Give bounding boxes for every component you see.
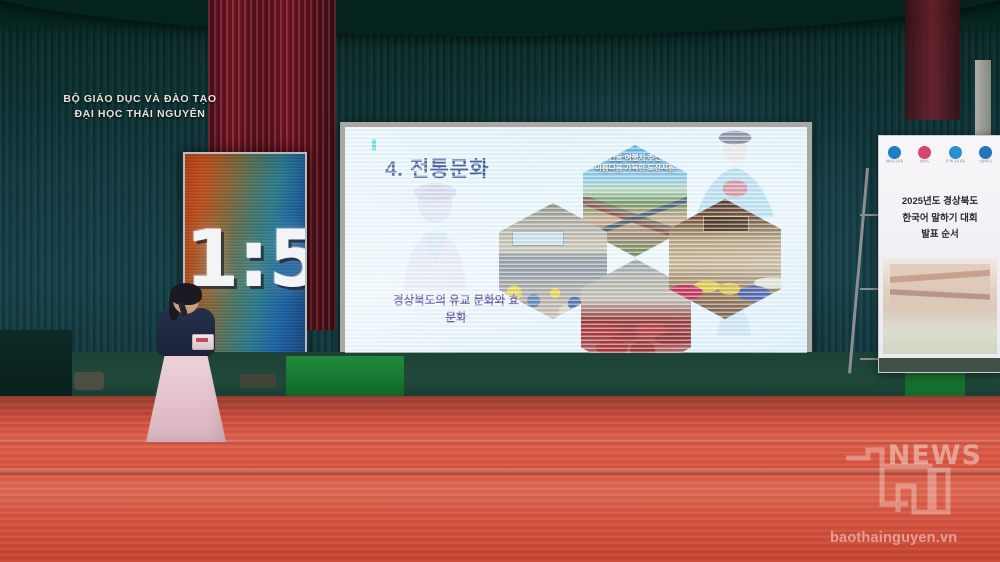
sponsor-logo-3-caption: 한국어 교육 지원 <box>944 161 966 164</box>
sponsor-logo-4: 안동대학교 <box>975 146 997 164</box>
slide-title: 4. 전통문화 <box>385 153 489 183</box>
hanok-plaque <box>703 216 750 232</box>
slide-caption: 경상북도의 유교 문화와 효 문화 <box>361 293 551 328</box>
poster-sponsor-logos: 경상북도교육청 경상북도 한국어 교육 지원 안동대학교 <box>879 146 1000 172</box>
red-robe-participants <box>581 309 691 353</box>
caption-line-1: 경상북도의 유교 문화와 효 <box>361 293 551 310</box>
stage-scene: BỘ GIÁO DỤC VÀ ĐÀO TẠO ĐẠI HỌC THÁI NGUY… <box>0 0 1000 562</box>
sponsor-logo-1: 경상북도교육청 <box>883 146 905 164</box>
sponsor-logo-4-caption: 안동대학교 <box>975 161 997 164</box>
news-watermark: NEWS baothainguyen.vn <box>828 432 988 550</box>
poster-hanok-photo <box>883 258 997 354</box>
caption-line-2: 문화 <box>361 310 551 327</box>
poster-title-line-3: 발표 순서 <box>885 227 995 244</box>
watermark-url: baothainguyen.vn <box>830 530 957 546</box>
overlay-line-1: 안동 여행지 추천 <box>587 153 683 163</box>
sponsor-logo-4-mark <box>979 146 992 159</box>
led-screen-frame: 4. 전통문화 <box>340 122 812 358</box>
presentation-slide: 4. 전통문화 <box>345 127 807 353</box>
green-panel-center <box>286 356 404 400</box>
photo-overlay-text: 안동 여행지 추천 아름다움 가득한 도산서원 <box>587 153 683 173</box>
sponsor-logo-2: 경상북도 <box>914 146 936 164</box>
easel-leg-left <box>848 168 869 373</box>
poster-title-line-1: 2025년도 경상북도 <box>885 194 995 211</box>
slide-accent-tick <box>372 139 376 150</box>
overlay-line-2: 아름다움 가득한 도산서원 <box>587 163 683 173</box>
banner-line-1: BỘ GIÁO DỤC VÀ ĐÀO TẠO <box>40 92 240 107</box>
sponsor-logo-1-mark <box>888 146 901 159</box>
sponsor-logo-2-caption: 경상북도 <box>914 161 936 164</box>
sponsor-logo-2-mark <box>918 146 931 159</box>
poster-title-line-2: 한국어 말하기 대회 <box>885 211 995 228</box>
dark-prop-left <box>0 330 72 402</box>
sponsor-logo-1-caption: 경상북도교육청 <box>883 161 905 164</box>
banner-line-2: ĐẠI HỌC THÁI NGUYÊN <box>40 107 240 122</box>
red-curtain-panel-right <box>905 0 960 120</box>
hanok-roof-shapes <box>890 264 990 320</box>
ministry-banner: BỘ GIÁO DỤC VÀ ĐÀO TẠO ĐẠI HỌC THÁI NGUY… <box>40 92 240 122</box>
event-sign <box>512 231 564 246</box>
event-poster: 경상북도교육청 경상북도 한국어 교육 지원 안동대학교 2025년도 경상북도… <box>878 135 1000 373</box>
poster-footer-bar <box>879 358 1000 372</box>
sponsor-logo-3-mark <box>949 146 962 159</box>
poster-title: 2025년도 경상북도 한국어 말하기 대회 발표 순서 <box>885 194 995 244</box>
sponsor-logo-3: 한국어 교육 지원 <box>944 146 966 164</box>
presenter-figure <box>140 286 232 442</box>
watermark-news-label: NEWS <box>888 440 982 471</box>
presenter-hair <box>170 283 202 305</box>
presenter-cue-cards <box>192 334 214 350</box>
presenter-cue-card-accent <box>196 338 208 342</box>
floor-prop-1 <box>74 372 104 390</box>
floor-prop-2 <box>240 374 276 388</box>
hanbok-woman-watermark-icon <box>383 183 487 301</box>
